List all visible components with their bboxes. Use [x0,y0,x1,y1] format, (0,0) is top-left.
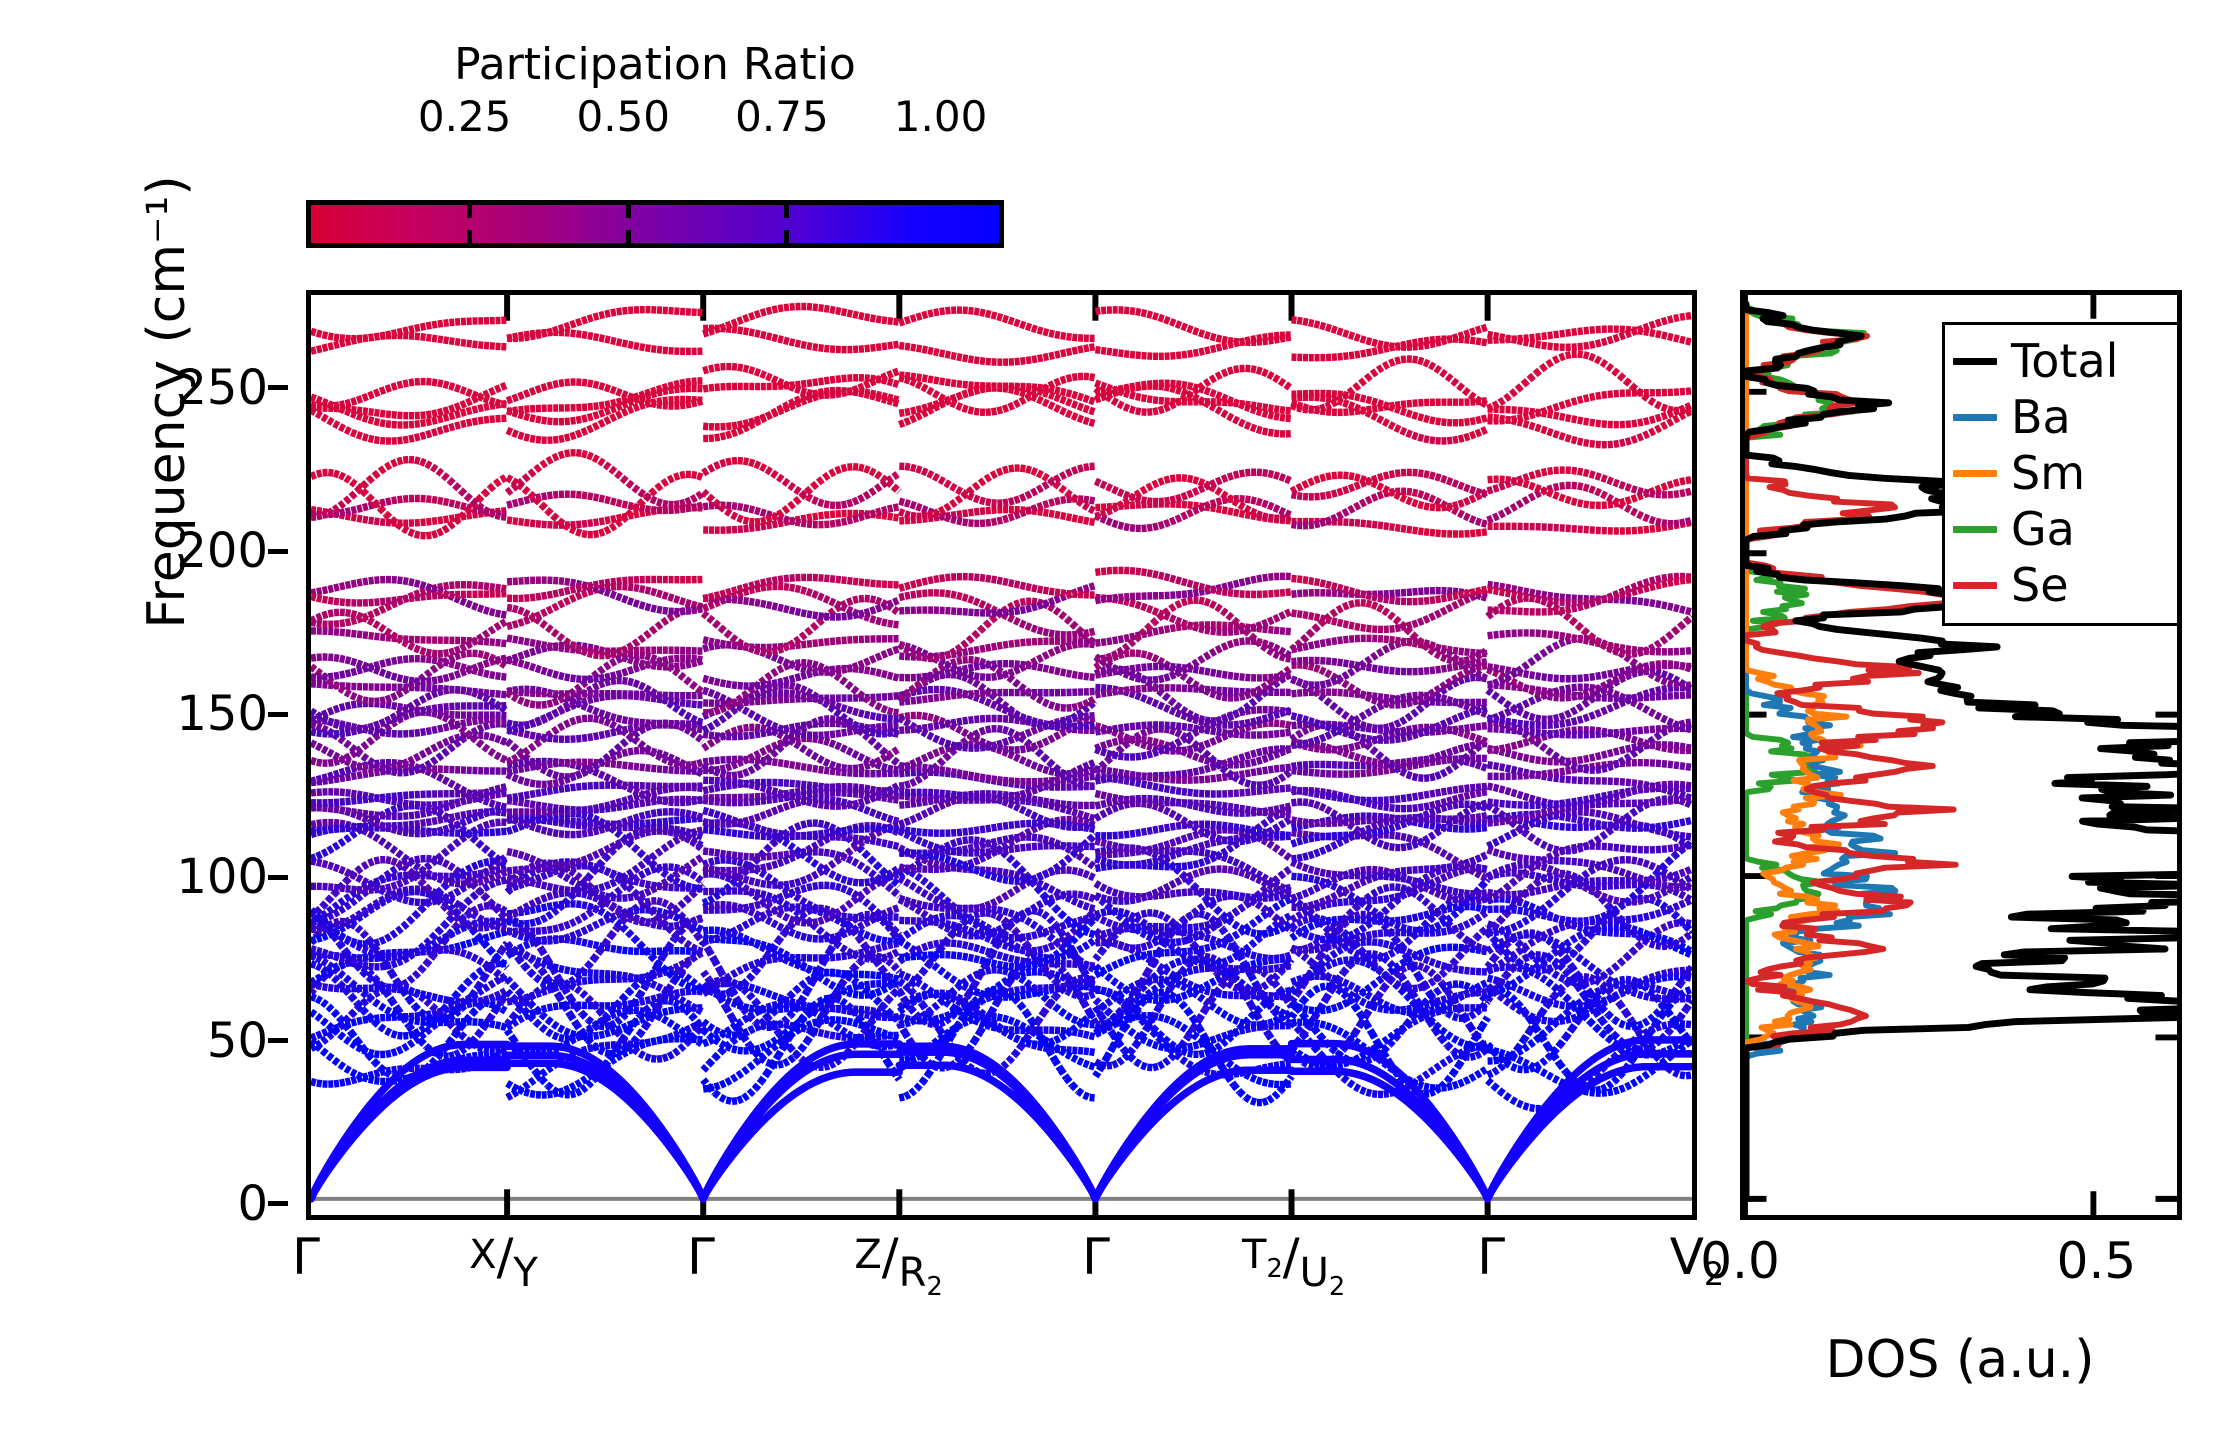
phonon-band-segment [461,952,467,954]
phonon-band-segment [317,1083,323,1084]
phonon-band-segment [928,896,934,899]
phonon-band-segment [1361,1001,1367,1004]
phonon-band-segment [334,1012,340,1018]
phonon-band-segment [1488,1080,1494,1085]
phonon-band-segment [542,1079,548,1085]
phonon-band-segment [778,926,784,929]
phonon-band-segment [917,948,923,951]
phonon-band-segment [536,1074,542,1078]
phonon-band-segment [1378,988,1384,996]
phonon-band-segment [1554,974,1560,978]
phonon-band-segment [1548,1075,1554,1078]
phonon-band-segment [1309,990,1315,995]
phonon-band-segment [865,901,871,906]
phonon-band-segment [611,928,617,936]
phonon-band-segment [594,923,600,926]
phonon-band-segment [790,991,796,996]
phonon-band-segment [1430,971,1436,976]
phonon-band-segment [1268,1004,1274,1011]
phonon-band-segment [784,954,790,957]
phonon-band-segment [340,907,346,911]
phonon-band-segment [363,863,369,866]
phonon-band-segment [1176,932,1182,933]
phonon-band-segment [484,896,490,902]
phonon-band-segment [398,891,404,893]
phonon-band-segment [1107,1047,1113,1057]
phonon-band-segment [1090,993,1096,995]
phonon-band-segment [1159,888,1165,891]
phonon-band-segment [847,901,853,905]
phonon-band-segment [311,1082,317,1084]
phonon-band-segment [1274,1065,1280,1066]
phonon-band-segment [1315,948,1321,949]
phonon-band-segment [790,1047,796,1053]
phonon-band-segment [992,953,998,955]
phonon-band-segment [922,880,928,885]
phonon-band-segment [1572,982,1578,983]
phonon-band-segment [1038,949,1044,950]
phonon-band-segment [1130,957,1136,959]
phonon-band-segment [1500,1052,1506,1054]
phonon-band-segment [507,1030,513,1038]
phonon-band-segment [1459,1082,1465,1084]
phonon-band-segment [628,987,634,993]
phonon-band-segment [340,1064,346,1068]
phonon-band-segment [565,924,571,926]
phonon-band-segment [547,929,553,930]
phonon-band-segment [957,944,963,945]
phonon-band-segment [824,1034,830,1035]
phonon-band-segment [490,925,496,927]
phonon-band-segment [928,944,934,946]
phonon-band-segment [1003,965,1009,966]
phonon-band-segment [911,1020,917,1021]
phonon-band-segment [547,1094,553,1095]
phonon-band-segment [1101,919,1107,922]
phonon-band-segment [1447,1057,1453,1060]
phonon-band-segment [1055,1038,1061,1041]
phonon-band-segment [1614,963,1620,968]
y-axis-tick-mark [268,549,288,554]
phonon-band-segment [1090,1097,1096,1098]
phonon-band-segment [882,1000,888,1007]
phonon-band-segment [1632,1026,1638,1027]
phonon-band-segment [940,894,946,899]
phonon-band-segment [1476,992,1482,993]
phonon-band-segment [1530,935,1536,936]
phonon-band-segment [542,1027,548,1031]
phonon-band-segment [1136,1062,1142,1066]
phonon-band-segment [778,900,784,903]
phonon-band-segment [409,1041,415,1045]
phonon-band-segment [496,933,502,935]
phonon-band-segment [1274,958,1280,959]
phonon-band-segment [819,976,825,980]
phonon-band-segment [519,908,525,911]
phonon-band-segment [1602,1008,1608,1014]
phonon-band-segment [813,922,819,923]
phonon-band-segment [1049,945,1055,948]
phonon-band-segment [1268,1097,1274,1101]
phonon-band-segment [374,880,380,882]
phonon-band-segment [1686,897,1692,901]
phonon-band-segment [432,997,438,998]
phonon-band-segment [1217,1044,1223,1048]
phonon-band-segment [323,1002,329,1006]
phonon-band-segment [1608,979,1614,983]
phonon-band-segment [1524,944,1530,948]
phonon-band-segment [686,1003,692,1006]
phonon-band-segment [992,909,998,910]
phonon-band-segment [986,938,992,941]
phonon-band-segment [1465,923,1471,926]
phonon-band-segment [784,1025,790,1026]
phonon-band-segment [1280,872,1286,876]
phonon-band-segment [1566,940,1572,944]
phonon-band-segment [1211,980,1217,983]
phonon-band-segment [1309,945,1315,948]
phonon-band-segment [1674,891,1680,894]
phonon-band-segment [1395,920,1401,921]
phonon-band-segment [334,911,340,914]
phonon-band-segment [1578,1000,1584,1004]
phonon-band-segment [530,995,536,997]
phonon-band-segment [934,965,940,969]
phonon-band-segment [542,1070,548,1074]
phonon-band-segment [576,875,582,880]
phonon-band-segment [1297,949,1303,950]
phonon-band-segment [1263,1101,1269,1103]
phonon-band-segment [1107,899,1113,900]
phonon-band-segment [1251,1101,1257,1103]
phonon-band-segment [1632,918,1638,919]
phonon-band-segment [957,908,963,909]
phonon-band-segment [1205,937,1211,939]
phonon-band-segment [1441,969,1447,974]
phonon-band-segment [1084,1003,1090,1013]
phonon-band-segment [1147,936,1153,939]
phonon-band-segment [951,955,957,956]
phonon-band-segment [738,1020,744,1024]
phonon-band-segment [709,951,715,961]
phonon-band-segment [1205,1041,1211,1043]
phonon-band-segment [1418,896,1424,900]
phonon-band-segment [1459,951,1465,957]
band-structure-plot [306,290,1697,1220]
phonon-band-segment [571,978,577,982]
phonon-band-segment [1494,1069,1500,1073]
phonon-band-segment [945,935,951,942]
phonon-band-segment [1084,918,1090,919]
phonon-band-segment [1315,1047,1321,1054]
phonon-band-segment [1686,1024,1692,1025]
phonon-band-segment [651,998,657,1000]
phonon-band-segment [1332,939,1338,940]
phonon-band-segment [917,909,923,913]
phonon-band-segment [865,1010,871,1011]
phonon-band-segment [1488,1073,1494,1075]
phonon-band-segment [1500,961,1506,965]
phonon-band-segment [755,989,761,991]
phonon-band-segment [357,928,363,933]
phonon-band-segment [513,911,519,914]
phonon-band-segment [1686,926,1692,933]
phonon-band-segment [1078,947,1084,950]
phonon-band-segment [680,1009,686,1010]
phonon-band-segment [1650,943,1656,945]
phonon-band-segment [1193,935,1199,938]
phonon-band-segment [697,928,703,931]
phonon-band-segment [709,1026,715,1030]
phonon-band-segment [1303,927,1309,930]
phonon-band-segment [530,909,536,910]
phonon-band-segment [1199,1053,1205,1054]
phonon-band-segment [426,1027,432,1032]
phonon-band-segment [1251,1027,1257,1028]
phonon-band-segment [403,1045,409,1048]
phonon-band-segment [1512,1049,1518,1057]
phonon-band-segment [1413,993,1419,1002]
phonon-band-segment [1542,1004,1548,1013]
phonon-band-segment [1366,1092,1372,1094]
phonon-band-segment [1470,919,1476,922]
phonon-band-segment [369,1018,375,1019]
phonon-band-segment [795,1028,801,1031]
phonon-band-segment [1107,1065,1113,1066]
phonon-band-segment [922,1075,928,1083]
phonon-band-segment [674,1009,680,1010]
phonon-band-segment [438,926,444,932]
phonon-band-segment [536,1022,542,1027]
phonon-band-segment [1067,1078,1073,1085]
phonon-band-segment [922,985,928,989]
phonon-band-segment [519,935,525,937]
phonon-band-segment [1182,1027,1188,1031]
phonon-band-segment [1620,1023,1626,1025]
phonon-band-segment [1020,937,1026,938]
phonon-band-segment [1003,1061,1009,1066]
phonon-band-segment [1650,914,1656,916]
colorbar-tick-label: 1.00 [894,92,988,141]
phonon-band-segment [1662,973,1668,974]
phonon-band-segment [1602,1093,1608,1094]
phonon-band-segment [1193,1035,1199,1039]
phonon-band-segment [934,1003,940,1008]
phonon-band-segment [1524,991,1530,994]
phonon-band-segment [1280,1064,1286,1065]
y-axis-tick-mark [268,1201,288,1206]
y-axis-tick-label: 100 [176,849,268,905]
phonon-band-segment [807,886,813,887]
phonon-band-segment [755,914,761,917]
phonon-band-segment [334,978,340,984]
phonon-band-segment [582,1014,588,1020]
phonon-band-segment [761,1045,767,1048]
phonon-band-segment [1263,1026,1269,1027]
phonon-band-segment [1560,890,1566,895]
phonon-band-segment [980,913,986,914]
phonon-band-segment [346,1023,352,1025]
phonon-band-segment [472,927,478,928]
phonon-band-segment [605,1032,611,1034]
phonon-band-segment [732,860,738,861]
phonon-band-segment [317,985,323,986]
phonon-band-segment [1165,1059,1171,1064]
phonon-band-segment [1205,929,1211,932]
phonon-band-segment [669,928,675,934]
phonon-band-segment [686,943,692,947]
phonon-band-segment [351,899,357,903]
phonon-band-segment [351,1021,357,1023]
phonon-band-segment [1176,1055,1182,1060]
phonon-band-segment [646,884,652,885]
phonon-band-segment [1199,1028,1205,1038]
phonon-band-segment [738,883,744,887]
phonon-band-segment [732,989,738,992]
phonon-band-segment [1572,967,1578,975]
phonon-band-segment [317,999,323,1002]
phonon-band-segment [1136,918,1142,922]
phonon-band-segment [1061,1034,1067,1037]
phonon-band-segment [957,956,963,957]
phonon-band-segment [311,964,317,966]
phonon-band-segment [795,934,801,936]
phonon-band-segment [1384,1093,1390,1094]
phonon-band-segment [1268,912,1274,917]
phonon-band-segment [911,956,917,957]
phonon-band-segment [328,907,334,911]
phonon-band-segment [899,990,905,994]
phonon-band-segment [1280,901,1286,904]
phonon-band-segment [1130,1045,1136,1052]
phonon-band-segment [778,1064,784,1065]
phonon-band-segment [346,1081,352,1082]
phonon-band-segment [1217,963,1223,964]
phonon-band-segment [449,899,455,902]
phonon-band-segment [1182,995,1188,997]
phonon-band-segment [1009,1020,1015,1022]
phonon-band-segment [1292,916,1298,919]
phonon-band-segment [1644,1020,1650,1024]
phonon-band-segment [1338,960,1344,961]
phonon-band-segment [795,921,801,922]
phonon-band-segment [640,1054,646,1057]
phonon-band-segment [1632,860,1638,861]
phonon-band-segment [1113,963,1119,966]
phonon-band-segment [894,1017,900,1018]
phonon-band-segment [1142,946,1148,948]
phonon-band-segment [1361,961,1367,963]
phonon-band-segment [455,1001,461,1002]
colorbar-tick-mark [626,205,631,218]
phonon-band-segment [513,1000,519,1001]
phonon-band-segment [1518,922,1524,925]
phonon-band-segment [1142,1027,1148,1036]
phonon-band-segment [744,1068,750,1072]
phonon-band-segment [997,970,1003,971]
phonon-band-segment [1090,1036,1096,1038]
phonon-band-segment [1165,1048,1171,1049]
phonon-band-segment [709,861,715,863]
phonon-band-segment [1638,917,1644,918]
phonon-band-segment [1584,929,1590,930]
phonon-band-segment [559,968,565,969]
phonon-band-segment [744,1037,750,1045]
phonon-band-segment [1447,1086,1453,1087]
phonon-band-segment [1644,1073,1650,1077]
phonon-band-segment [1205,991,1211,993]
phonon-band-segment [1338,1064,1344,1065]
phonon-band-segment [1596,1012,1602,1020]
phonon-band-segment [1211,945,1217,947]
phonon-band-segment [1020,1005,1026,1013]
phonon-band-segment [847,988,853,990]
phonon-band-segment [1303,892,1309,895]
phonon-band-segment [351,996,357,1003]
phonon-band-segment [1614,860,1620,861]
phonon-band-segment [1530,1108,1536,1109]
phonon-band-segment [940,916,946,917]
phonon-band-segment [732,929,738,932]
phonon-band-segment [922,965,928,972]
phonon-band-segment [801,907,807,908]
phonon-band-segment [1205,947,1211,949]
phonon-band-segment [1268,1083,1274,1084]
phonon-band-segment [369,1079,375,1080]
phonon-band-segment [415,1021,421,1022]
phonon-band-segment [1188,1011,1194,1019]
phonon-band-segment [1542,1020,1548,1021]
phonon-band-segment [888,994,894,1000]
phonon-band-segment [1608,968,1614,972]
phonon-band-segment [571,971,577,972]
phonon-band-segment [449,1023,455,1029]
phonon-band-segment [709,905,715,906]
phonon-band-segment [559,1028,565,1031]
phonon-band-segment [1674,905,1680,908]
phonon-band-segment [1303,919,1309,921]
phonon-band-segment [853,963,859,969]
phonon-band-segment [1441,1038,1447,1045]
phonon-band-segment [640,1026,646,1034]
phonon-band-segment [542,950,548,959]
phonon-band-segment [547,1019,553,1023]
phonon-band-segment [1084,895,1090,897]
phonon-band-segment [911,1057,917,1059]
phonon-band-segment [1303,1009,1309,1010]
colorbar-tick-label: 0.25 [418,92,512,141]
phonon-band-segment [1459,994,1465,995]
phonon-band-segment [997,898,1003,901]
phonon-band-segment [1343,989,1349,993]
phonon-band-segment [1608,1014,1614,1019]
phonon-band-segment [1418,1084,1424,1086]
phonon-band-segment [738,862,744,864]
phonon-band-segment [1245,945,1251,950]
phonon-band-segment [1608,861,1614,863]
phonon-band-segment [507,1094,513,1097]
phonon-band-segment [1470,1056,1476,1057]
phonon-band-segment [386,1031,392,1034]
phonon-band-segment [599,911,605,914]
phonon-band-segment [830,1035,836,1036]
phonon-band-segment [801,981,807,985]
phonon-band-segment [1003,937,1009,938]
phonon-band-segment [409,889,415,890]
phonon-band-segment [1061,1051,1067,1055]
phonon-band-segment [622,975,628,976]
phonon-band-segment [870,1016,876,1017]
